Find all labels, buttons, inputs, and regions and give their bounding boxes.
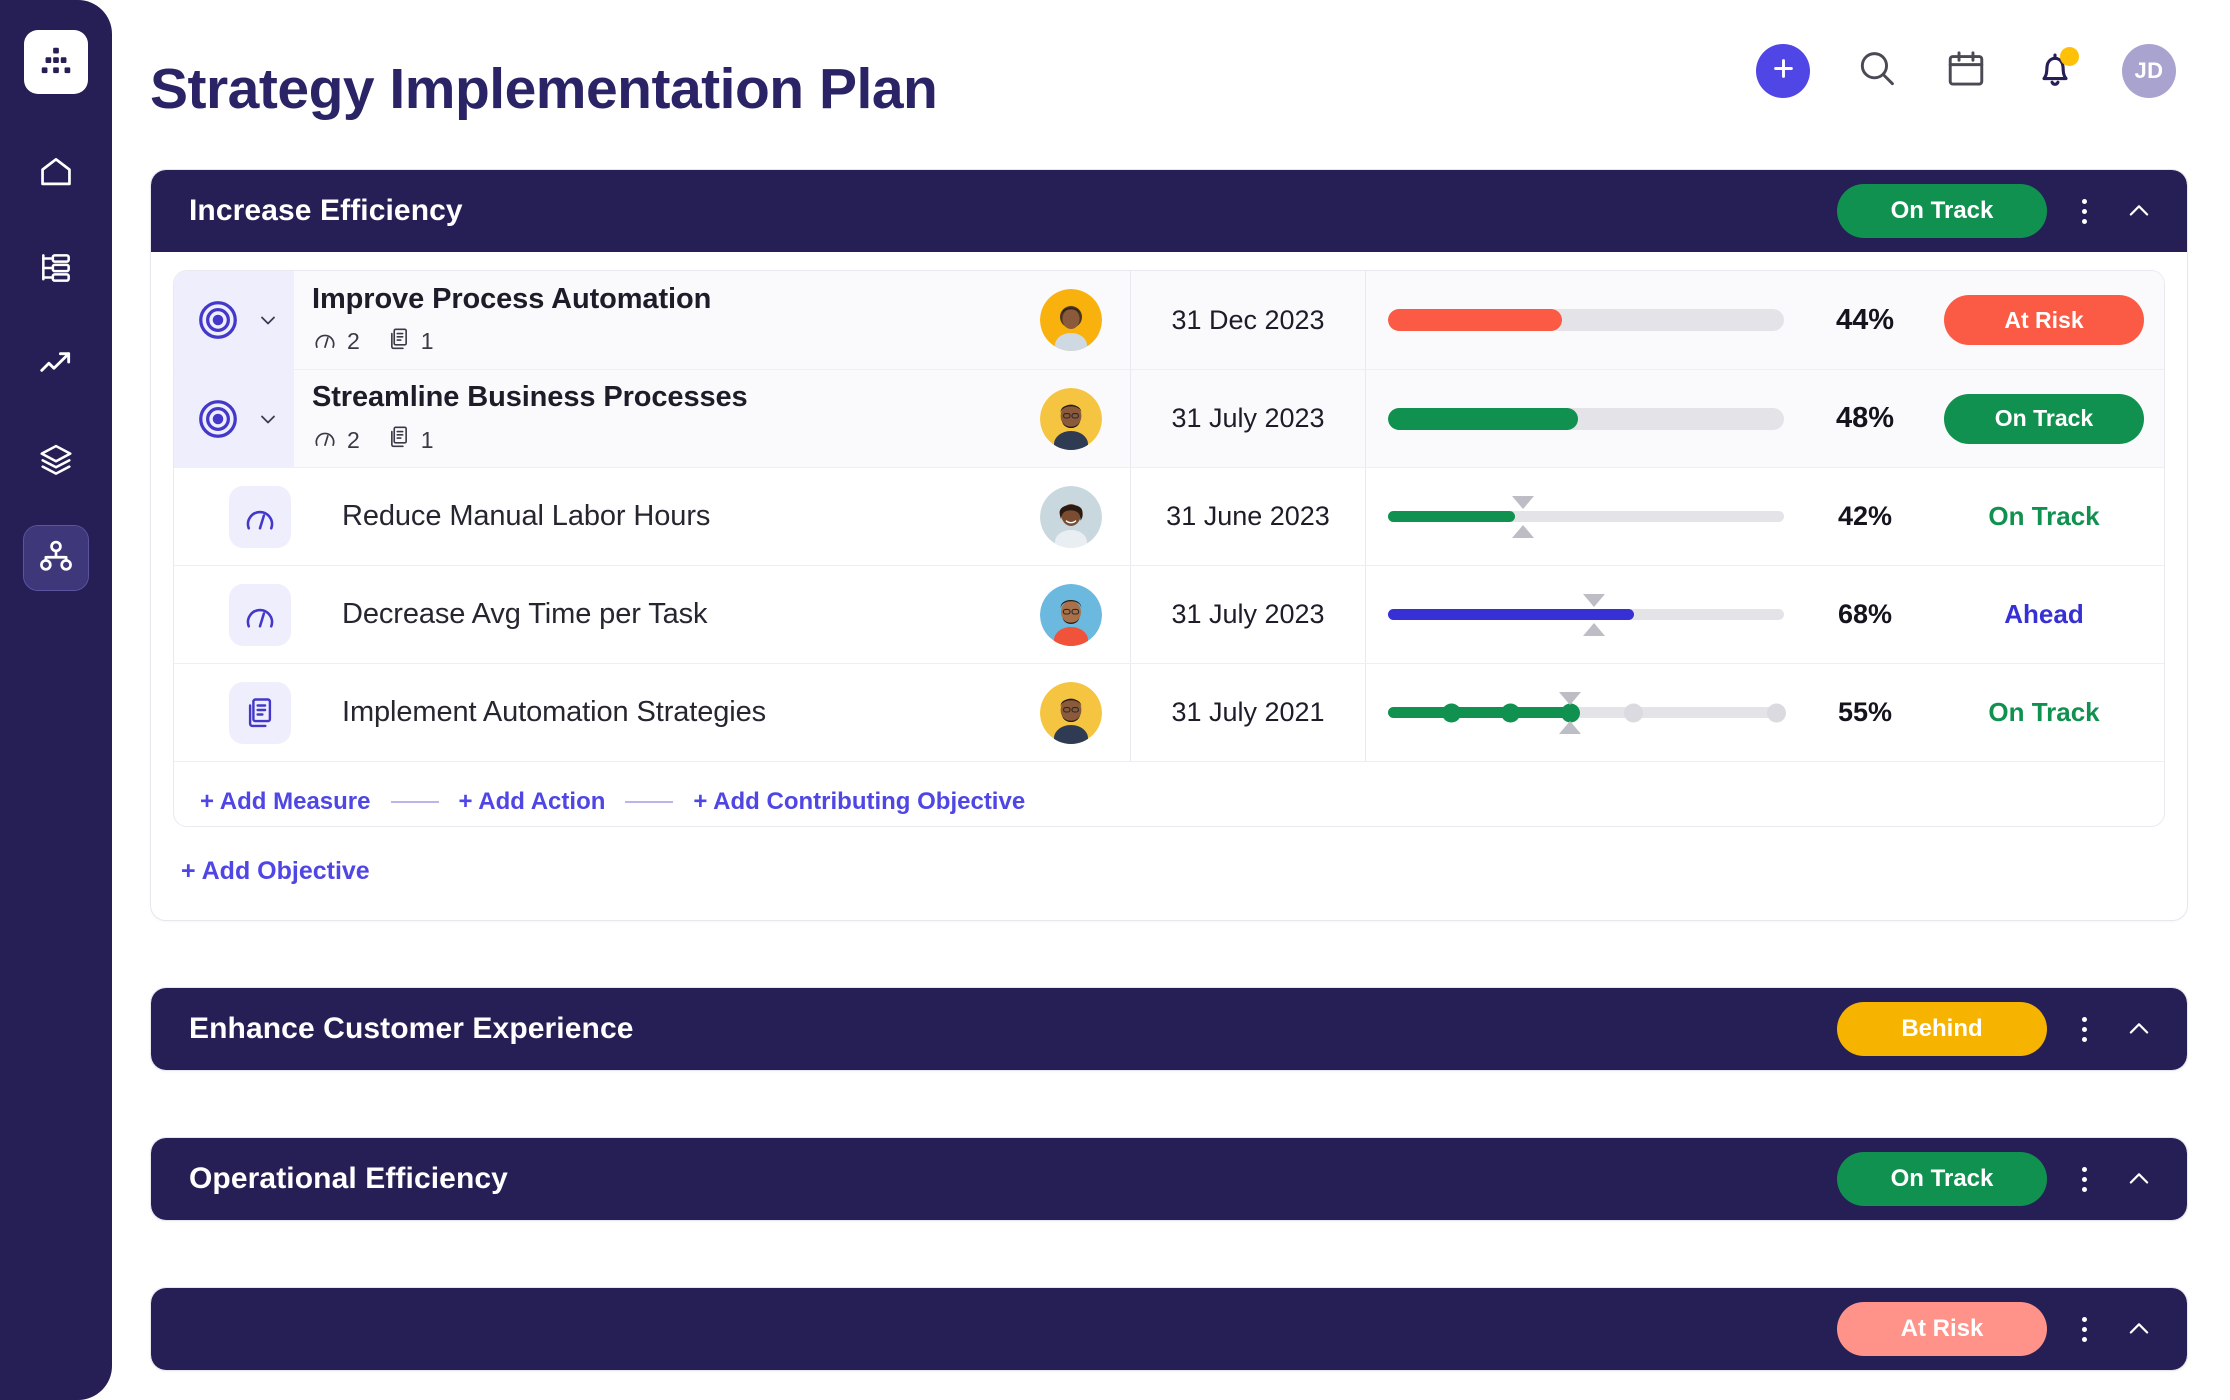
progress-bar <box>1388 408 1784 430</box>
owner-avatar-4 <box>1040 584 1102 646</box>
status-cell[interactable]: At Risk <box>1924 295 2164 345</box>
chevron-up-icon[interactable] <box>2121 1011 2157 1047</box>
add-contributing-objective-link[interactable]: + Add Contributing Objective <box>693 788 1025 816</box>
status-badge[interactable]: On Track <box>1944 394 2144 444</box>
status-cell[interactable]: On Track <box>1924 501 2164 532</box>
action-name: Implement Automation Strategies <box>342 696 1012 729</box>
status-badge[interactable]: At Risk <box>1837 1302 2047 1356</box>
document-stack-icon <box>386 326 412 358</box>
home-icon <box>37 153 75 196</box>
more-vertical-icon[interactable] <box>2069 1011 2099 1048</box>
due-date: 31 Dec 2023 <box>1130 271 1366 369</box>
goal-card-increase-efficiency: Increase Efficiency On Track <box>150 169 2188 921</box>
trend-up-icon <box>37 345 75 388</box>
org-chart-logo-icon[interactable] <box>24 30 88 94</box>
goal-header[interactable]: Increase Efficiency On Track <box>151 170 2187 252</box>
calendar-button[interactable] <box>1944 47 1988 96</box>
plus-icon <box>1770 55 1797 87</box>
owner-cell[interactable] <box>1012 388 1130 450</box>
page-title: Strategy Implementation Plan <box>150 26 937 125</box>
user-avatar[interactable]: JD <box>2122 44 2176 98</box>
action-name-cell: Implement Automation Strategies <box>320 696 1012 729</box>
action-icon-cell <box>200 664 320 761</box>
divider <box>625 801 673 803</box>
topbar: Strategy Implementation Plan <box>150 0 2188 125</box>
action-count[interactable]: 1 <box>386 424 434 456</box>
goal-header[interactable]: Operational Efficiency On Track <box>151 1138 2187 1220</box>
topbar-actions: JD <box>1756 26 2188 98</box>
goal-body: Improve Process Automation 2 <box>151 252 2187 920</box>
measure-slider-cell[interactable] <box>1366 593 1806 637</box>
progress-percent: 48% <box>1806 402 1924 435</box>
progress-bar-cell[interactable] <box>1366 408 1806 430</box>
owner-cell[interactable] <box>1012 682 1130 744</box>
status-cell[interactable]: Ahead <box>1924 599 2164 630</box>
app-root: Strategy Implementation Plan <box>0 0 2230 1400</box>
measure-name: Reduce Manual Labor Hours <box>342 500 1012 533</box>
objective-counts: 2 <box>312 326 1012 358</box>
due-date: 31 June 2023 <box>1130 468 1366 565</box>
action-count-value: 1 <box>421 328 434 355</box>
slider-fill <box>1388 511 1515 522</box>
status-label: On Track <box>1988 501 2099 532</box>
owner-avatar-3 <box>1040 486 1102 548</box>
layers-icon <box>37 441 75 484</box>
target-marker <box>1559 691 1581 735</box>
status-badge[interactable]: At Risk <box>1944 295 2144 345</box>
gauge-icon <box>229 486 291 548</box>
objective-counts: 2 <box>312 424 1012 456</box>
divider <box>391 801 439 803</box>
document-stack-icon <box>229 682 291 744</box>
add-button[interactable] <box>1756 44 1810 98</box>
status-label: Ahead <box>2004 599 2083 630</box>
goal-header[interactable]: Enhance Customer Experience Behind <box>151 988 2187 1070</box>
action-milestone-cell[interactable] <box>1366 691 1806 735</box>
objective-block: Improve Process Automation 2 <box>173 270 2165 827</box>
network-icon <box>37 537 75 580</box>
owner-avatar-2 <box>1040 388 1102 450</box>
chevron-up-icon[interactable] <box>2121 1161 2157 1197</box>
status-badge[interactable]: On Track <box>1837 1152 2047 1206</box>
goal-card-enhance-customer-experience: Enhance Customer Experience Behind <box>150 987 2188 1071</box>
search-button[interactable] <box>1855 47 1899 96</box>
status-badge[interactable]: On Track <box>1837 184 2047 238</box>
measure-name: Decrease Avg Time per Task <box>342 598 1012 631</box>
sidebar-item-analytics[interactable] <box>24 334 88 398</box>
objective-icon-cell[interactable] <box>174 271 294 369</box>
goal-header-actions: Behind <box>1837 1002 2157 1056</box>
goal-header[interactable]: At Risk <box>151 1288 2187 1370</box>
objective-name: Streamline Business Processes <box>312 381 1012 414</box>
progress-percent: 44% <box>1806 304 1924 337</box>
chevron-down-icon[interactable] <box>255 407 281 431</box>
list-tree-icon <box>37 249 75 292</box>
objective-name: Improve Process Automation <box>312 283 1012 316</box>
measure-icon-cell <box>200 468 320 565</box>
due-date: 31 July 2023 <box>1130 566 1366 663</box>
more-vertical-icon[interactable] <box>2069 193 2099 230</box>
status-cell[interactable]: On Track <box>1924 697 2164 728</box>
milestone-slider[interactable] <box>1388 691 1784 735</box>
sidebar-item-layers[interactable] <box>24 430 88 494</box>
status-label: On Track <box>1988 697 2099 728</box>
status-badge[interactable]: Behind <box>1837 1002 2047 1056</box>
goal-header-actions: On Track <box>1837 184 2157 238</box>
sidebar-item-plans[interactable] <box>24 238 88 302</box>
measure-slider[interactable] <box>1388 495 1784 539</box>
measure-count-value: 2 <box>347 328 360 355</box>
measure-name-cell: Reduce Manual Labor Hours <box>320 500 1012 533</box>
document-stack-icon <box>386 424 412 456</box>
goal-title: Enhance Customer Experience <box>189 1012 634 1046</box>
progress-bar <box>1388 309 1784 331</box>
add-links-row: + Add Measure + Add Action + Add Contrib… <box>174 761 2164 826</box>
gauge-icon <box>312 424 338 456</box>
objective-name-cell: Improve Process Automation 2 <box>294 283 1012 358</box>
notification-unread-dot <box>2060 47 2079 66</box>
status-cell[interactable]: On Track <box>1924 394 2164 444</box>
owner-avatar-1 <box>1040 289 1102 351</box>
action-count-value: 1 <box>421 427 434 454</box>
sidebar-item-strategy[interactable] <box>24 526 88 590</box>
owner-cell[interactable] <box>1012 584 1130 646</box>
measure-count-value: 2 <box>347 427 360 454</box>
objective-row[interactable]: Streamline Business Processes 2 <box>174 369 2164 467</box>
add-objective-row: + Add Objective <box>173 827 2165 894</box>
measure-count[interactable]: 2 <box>312 424 360 456</box>
chevron-up-icon[interactable] <box>2121 193 2157 229</box>
slider-fill <box>1388 707 1570 718</box>
measure-count[interactable]: 2 <box>312 326 360 358</box>
notifications-button[interactable] <box>2033 47 2077 96</box>
chevron-up-icon[interactable] <box>2121 1311 2157 1347</box>
milestone-dot[interactable] <box>1442 703 1461 722</box>
target-marker <box>1512 495 1534 539</box>
goal-card-partial: At Risk <box>150 1287 2188 1371</box>
more-vertical-icon[interactable] <box>2069 1311 2099 1348</box>
logo-glyph <box>37 43 75 81</box>
measure-name-cell: Decrease Avg Time per Task <box>320 598 1012 631</box>
progress-percent: 68% <box>1806 599 1924 630</box>
chevron-down-icon[interactable] <box>255 308 281 332</box>
target-icon <box>187 289 249 351</box>
goal-title: Increase Efficiency <box>189 194 463 228</box>
gauge-icon <box>312 326 338 358</box>
measure-slider[interactable] <box>1388 593 1784 637</box>
target-icon <box>187 388 249 450</box>
target-marker <box>1583 593 1605 637</box>
due-date: 31 July 2023 <box>1130 370 1366 467</box>
progress-percent: 42% <box>1806 501 1924 532</box>
objective-name-cell: Streamline Business Processes 2 <box>294 381 1012 456</box>
owner-avatar-5 <box>1040 682 1102 744</box>
main-content: Strategy Implementation Plan <box>112 0 2230 1400</box>
goal-title: Operational Efficiency <box>189 1162 508 1196</box>
sidebar <box>0 0 112 1400</box>
objective-row[interactable]: Improve Process Automation 2 <box>174 271 2164 369</box>
add-objective-link[interactable]: + Add Objective <box>181 857 370 885</box>
milestone-dot[interactable] <box>1624 703 1643 722</box>
action-row[interactable]: Implement Automation Strategies 31 July … <box>174 663 2164 761</box>
milestone-dot[interactable] <box>1767 703 1786 722</box>
add-action-link[interactable]: + Add Action <box>459 788 606 816</box>
measure-icon-cell <box>200 566 320 663</box>
owner-cell[interactable] <box>1012 289 1130 351</box>
measure-row[interactable]: Decrease Avg Time per Task 31 July 2023 <box>174 565 2164 663</box>
owner-cell[interactable] <box>1012 486 1130 548</box>
progress-percent: 55% <box>1806 697 1924 728</box>
calendar-icon <box>1944 47 1988 96</box>
add-measure-link[interactable]: + Add Measure <box>200 788 371 816</box>
progress-bar-cell[interactable] <box>1366 309 1806 331</box>
goal-card-operational-efficiency: Operational Efficiency On Track <box>150 1137 2188 1221</box>
more-vertical-icon[interactable] <box>2069 1161 2099 1198</box>
gauge-icon <box>229 584 291 646</box>
search-icon <box>1855 47 1899 96</box>
measure-slider-cell[interactable] <box>1366 495 1806 539</box>
goal-header-actions: On Track <box>1837 1152 2157 1206</box>
sidebar-item-home[interactable] <box>24 142 88 206</box>
objective-icon-cell[interactable] <box>174 370 294 467</box>
action-count[interactable]: 1 <box>386 326 434 358</box>
due-date: 31 July 2021 <box>1130 664 1366 761</box>
milestone-dot[interactable] <box>1501 703 1520 722</box>
measure-row[interactable]: Reduce Manual Labor Hours 31 June 2023 <box>174 467 2164 565</box>
goal-header-actions: At Risk <box>1837 1302 2157 1356</box>
